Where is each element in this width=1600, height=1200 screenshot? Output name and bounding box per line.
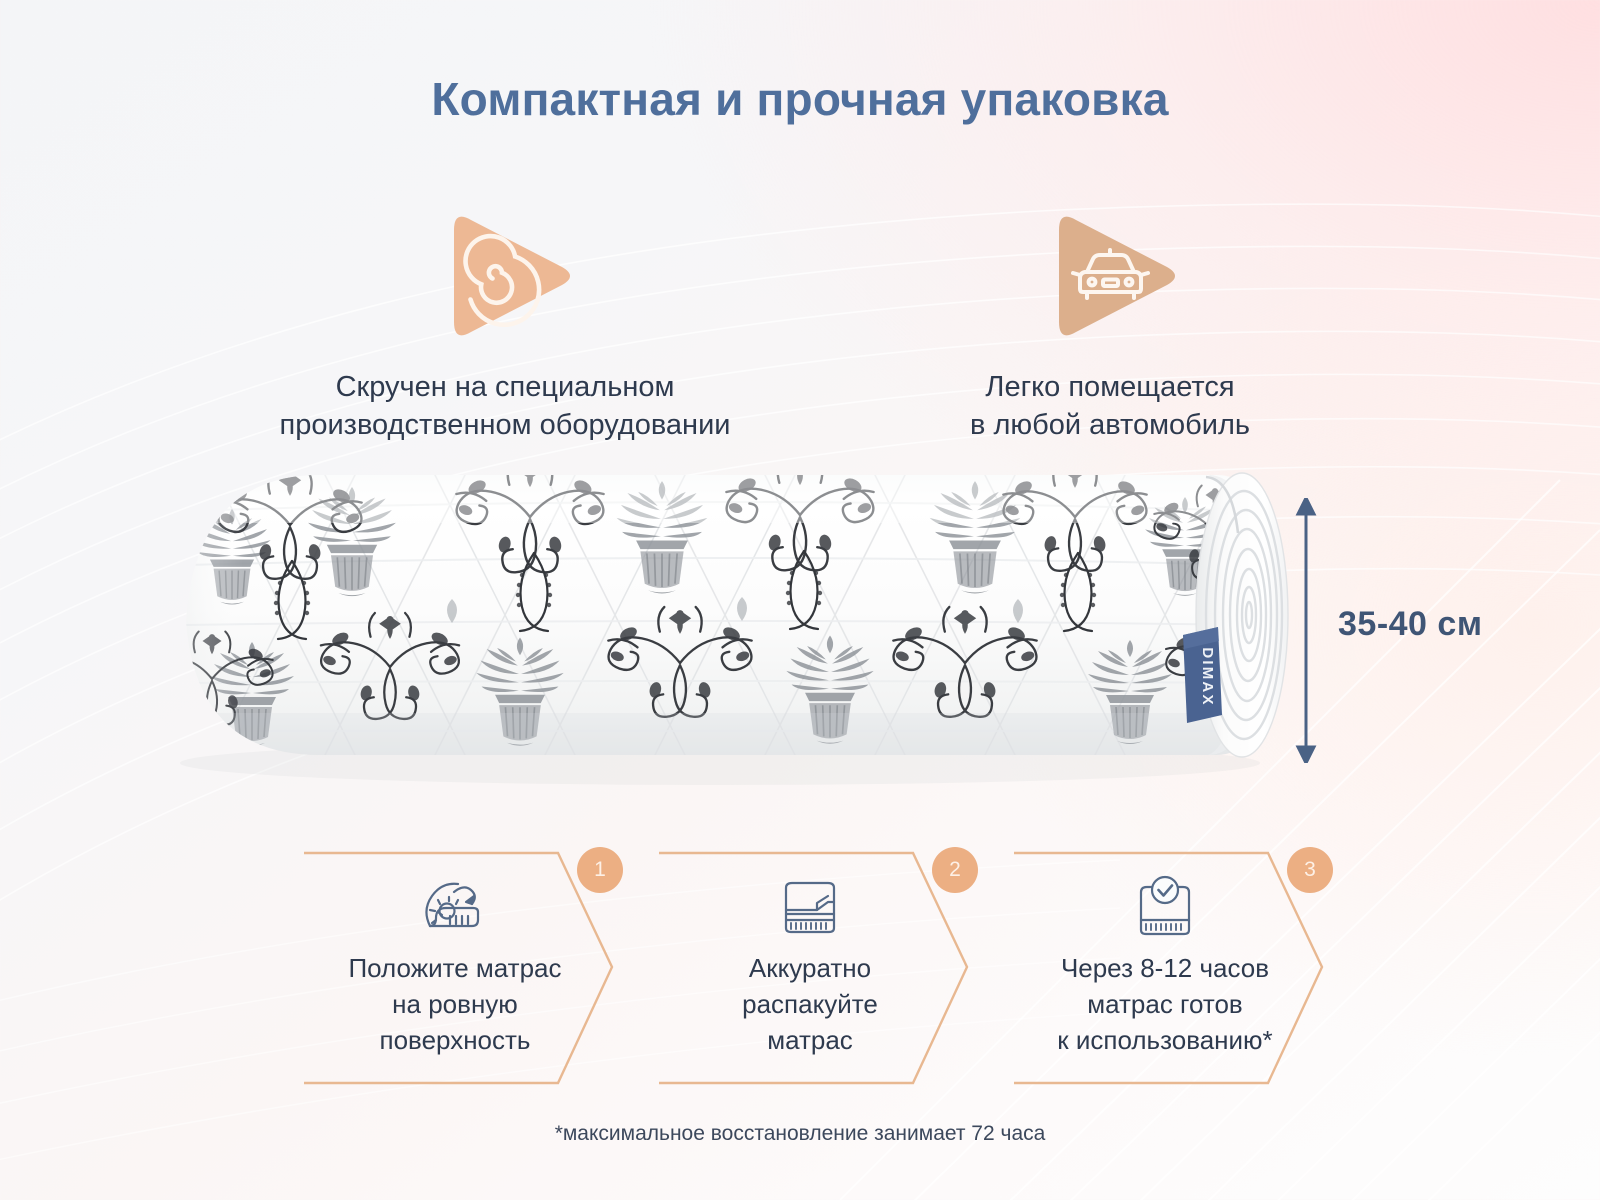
step-caption-line1: Положите матрас	[290, 951, 620, 987]
step-caption: Через 8-12 часов матрас готов к использо…	[1000, 951, 1330, 1059]
unpack-mattress-icon	[645, 867, 975, 947]
feature-icon-wrap	[830, 196, 1390, 356]
svg-text:DIMAX: DIMAX	[1199, 647, 1216, 706]
step-item-1: 1 Положите матрас на ровную поверхность	[290, 845, 620, 1090]
feature-item-car: Легко помещается в любой автомобиль	[830, 196, 1390, 445]
feature-caption: Скручен на специальном производственном …	[225, 368, 785, 445]
step-item-2: 2 Аккуратно распакуйте матрас	[645, 845, 975, 1090]
feature-icon-wrap	[225, 196, 785, 356]
feature-caption-line2: производственном оборудовании	[225, 406, 785, 444]
step-item-3: 3 Через 8-12 часов матрас готов к исполь…	[1000, 845, 1330, 1090]
step-caption-line1: Через 8-12 часов	[1000, 951, 1330, 987]
spiral-roll-icon	[430, 202, 580, 350]
feature-caption-line2: в любой автомобиль	[830, 406, 1390, 444]
footnote-text: *максимальное восстановление занимает 72…	[0, 1122, 1600, 1146]
feature-row: Скручен на специальном производственном …	[0, 196, 1600, 456]
step-caption-line3: к использованию*	[1000, 1023, 1330, 1059]
step-caption-line2: матрас готов	[1000, 987, 1330, 1023]
step-caption: Аккуратно распакуйте матрас	[645, 951, 975, 1059]
step-caption-line3: матрас	[645, 1023, 975, 1059]
feature-caption-line1: Легко помещается	[830, 368, 1390, 406]
feature-item-rolled: Скручен на специальном производственном …	[225, 196, 785, 445]
rolled-mattress-tape-icon	[290, 867, 620, 947]
dimension-arrow	[1295, 498, 1317, 763]
page-title: Компактная и прочная упаковка	[0, 72, 1600, 126]
step-caption-line3: поверхность	[290, 1023, 620, 1059]
step-caption: Положите матрас на ровную поверхность	[290, 951, 620, 1059]
step-caption-line2: на ровную	[290, 987, 620, 1023]
feature-caption-line1: Скручен на специальном	[225, 368, 785, 406]
brand-label-tag: DIMAX	[1183, 627, 1222, 723]
rolled-mattress-image: DIMAX	[0, 455, 1600, 805]
steps-row: 1 Положите матрас на ровную поверхность	[0, 845, 1600, 1095]
car-icon	[1035, 202, 1185, 350]
mattress-check-icon	[1000, 867, 1330, 947]
step-caption-line2: распакуйте	[645, 987, 975, 1023]
step-caption-line1: Аккуратно	[645, 951, 975, 987]
feature-caption: Легко помещается в любой автомобиль	[830, 368, 1390, 445]
